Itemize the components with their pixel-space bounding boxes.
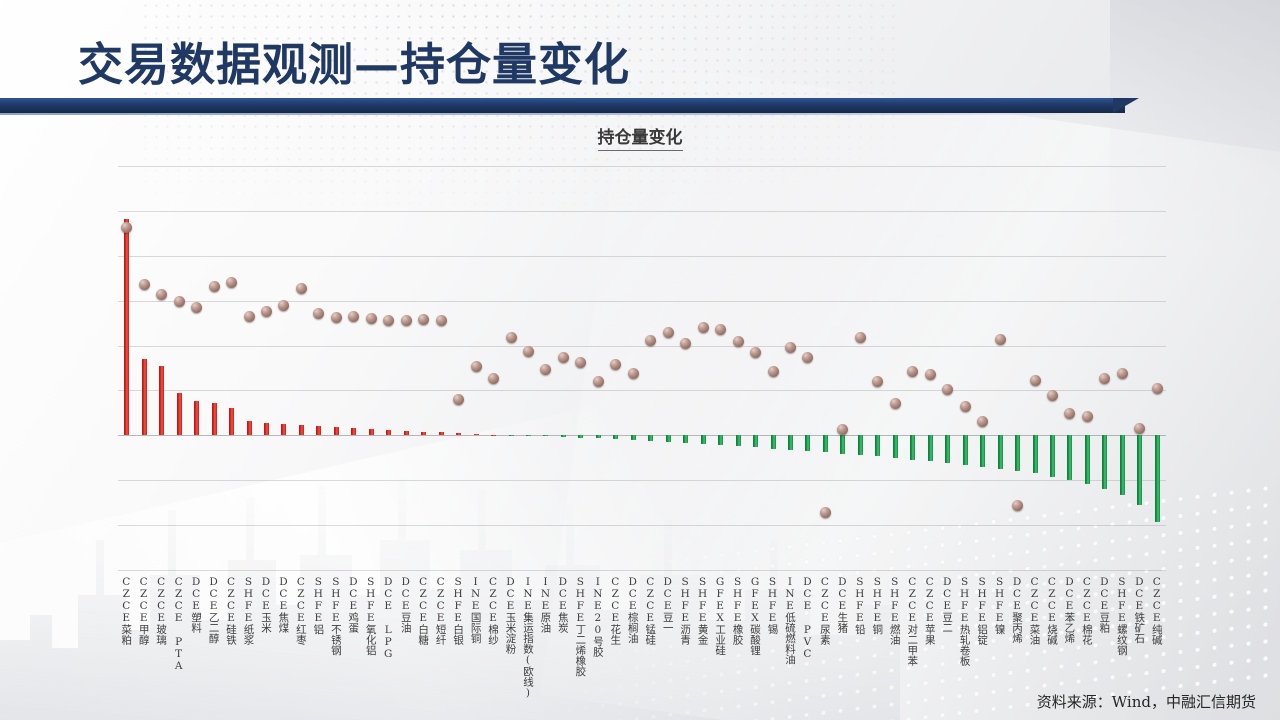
scatter-marker [139, 279, 150, 290]
x-axis-label: SHFE橡胶 [732, 576, 743, 645]
scatter-marker [907, 366, 918, 377]
page-title: 交易数据观测—持仓量变化 [78, 28, 630, 93]
gridline [118, 570, 1166, 571]
scatter-marker [540, 364, 551, 375]
scatter-marker [209, 281, 220, 292]
x-axis-label: GFEX工业硅 [715, 576, 726, 656]
scatter-marker [942, 384, 953, 395]
x-axis-label: DCE乙二醇 [208, 576, 219, 644]
scatter-marker [733, 336, 744, 347]
gridline [118, 480, 1166, 481]
bar-negative [736, 435, 741, 446]
header-accent-bar-tip [1113, 98, 1139, 113]
x-axis-label: INE原油 [540, 576, 551, 633]
x-axis-label: SHFE铜 [872, 576, 883, 635]
x-axis-label: CZCE对二甲苯 [907, 576, 918, 666]
scatter-marker [558, 352, 569, 363]
bar-positive [386, 430, 391, 436]
bar-positive [247, 421, 252, 435]
bar-negative [1102, 435, 1107, 489]
scatter-marker [1117, 368, 1128, 379]
x-axis-label: DCE棕榈油 [627, 576, 638, 644]
scatter-marker [925, 369, 936, 380]
x-axis-label: CZCE菜粕 [121, 576, 132, 645]
bar-negative [666, 435, 671, 442]
x-axis-label: SHFE白银 [453, 576, 464, 645]
bar-negative [561, 435, 566, 437]
x-axis-label: INE国际铜 [470, 576, 481, 644]
scatter-marker [471, 361, 482, 372]
bar-positive [177, 393, 182, 436]
x-axis-label: INE低硫燃料油 [784, 576, 795, 665]
bar-positive [316, 426, 321, 436]
scatter-marker [1064, 408, 1075, 419]
scatter-marker [1030, 375, 1041, 386]
x-axis-label: CZCE棉纱 [488, 576, 499, 645]
x-axis-label: SHFE沥青 [680, 576, 691, 645]
scatter-marker [383, 315, 394, 326]
bar-negative [1137, 435, 1142, 505]
bar-negative [631, 435, 636, 440]
x-axis-label: INE20号胶 [592, 576, 603, 657]
x-axis-label: SHFE黄金 [697, 576, 708, 645]
scatter-marker [261, 306, 272, 317]
bar-negative [875, 435, 880, 456]
x-axis-label: SHFE镍 [994, 576, 1005, 635]
gridline [118, 166, 1166, 167]
bar-negative [1050, 435, 1055, 477]
x-axis-label: GFEX碳酸锂 [750, 576, 761, 656]
scatter-marker [628, 368, 639, 379]
bar-negative [578, 435, 583, 437]
header-accent-hairline [0, 113, 1122, 115]
x-axis-label: CZCE玻璃 [156, 576, 167, 645]
plot-area: -60000-40000-200000200004000060000800001… [118, 166, 1166, 570]
scatter-marker [331, 312, 342, 323]
x-axis-label: CZCE尿素 [819, 576, 830, 645]
bar-positive [299, 425, 304, 436]
scatter-marker [453, 394, 464, 405]
x-axis-label: CZCE PTA [173, 576, 184, 672]
header-accent-bar [0, 98, 1125, 113]
bar-negative [718, 435, 723, 445]
x-axis-label: CZCE甲醇 [138, 576, 149, 645]
scatter-marker [1134, 423, 1145, 434]
scatter-marker [1012, 500, 1023, 511]
x-axis-label: CZCE短纤 [435, 576, 446, 645]
bar-negative [963, 435, 968, 465]
bar-negative [683, 435, 688, 443]
x-axis-label: DCE豆粕 [1099, 576, 1110, 633]
slide-header: 交易数据观测—持仓量变化 [0, 0, 1280, 122]
bar-positive [281, 424, 286, 436]
bar-positive [404, 431, 409, 436]
slide-canvas: 交易数据观测—持仓量变化 持仓量变化 -60000-40000-20000020… [0, 0, 1280, 720]
x-axis-label: CZCE菜油 [1029, 576, 1040, 645]
x-axis-label: DCE豆油 [400, 576, 411, 633]
bar-negative [858, 435, 863, 455]
scatter-marker [348, 311, 359, 322]
bar-negative [753, 435, 758, 447]
scatter-marker [436, 315, 447, 326]
x-axis-label: CZCE白糖 [418, 576, 429, 645]
x-axis-label: CZCE花生 [610, 576, 621, 645]
bar-negative [1085, 435, 1090, 483]
bar-positive [212, 403, 217, 435]
chart-container: 持仓量变化 -60000-40000-200000200004000060000… [0, 118, 1280, 678]
bar-negative [1015, 435, 1020, 471]
gridline [118, 211, 1166, 212]
scatter-marker [820, 507, 831, 518]
bar-positive [142, 359, 147, 435]
bar-negative [701, 435, 706, 444]
bar-positive [124, 219, 129, 436]
scatter-marker [855, 332, 866, 343]
x-axis-label: SHFE纸浆 [243, 576, 254, 645]
bar-negative [1120, 435, 1125, 494]
scatter-marker [663, 327, 674, 338]
x-axis-label: CZCE红枣 [295, 576, 306, 645]
scatter-marker [802, 352, 813, 363]
bar-negative [823, 435, 828, 452]
x-axis-label: DCE塑料 [191, 576, 202, 633]
chart-title: 持仓量变化 [0, 123, 1280, 148]
x-axis-label: DCE聚丙烯 [1012, 576, 1023, 644]
bar-negative [980, 435, 985, 466]
x-axis-label: SHFE丁二烯橡胶 [575, 576, 586, 677]
scatter-marker [785, 342, 796, 353]
x-axis-label: CZCE硅铁 [226, 576, 237, 645]
x-axis-label: DCE豆二 [942, 576, 953, 633]
bar-positive [229, 408, 234, 435]
bar-negative [596, 435, 601, 438]
scatter-marker [418, 314, 429, 325]
x-axis-label: DCE铁矿石 [1134, 576, 1145, 644]
bar-positive [421, 432, 426, 436]
x-axis-label: CZCE纯碱 [1151, 576, 1162, 645]
bar-positive [491, 435, 496, 436]
bar-positive [334, 427, 339, 436]
x-axis-label: DCE豆一 [662, 576, 673, 633]
bar-negative [771, 435, 776, 448]
scatter-marker [715, 324, 726, 335]
bar-positive [439, 432, 444, 435]
bar-negative [613, 435, 618, 439]
chart-title-text: 持仓量变化 [598, 128, 683, 151]
gridline [118, 301, 1166, 302]
bar-negative [893, 435, 898, 457]
x-axis-label: CZCE锰硅 [645, 576, 656, 645]
scatter-marker [226, 277, 237, 288]
bar-negative [928, 435, 933, 461]
scatter-marker [960, 401, 971, 412]
bar-negative [648, 435, 653, 441]
scatter-marker [244, 311, 255, 322]
scatter-marker [523, 346, 534, 357]
x-axis-label: DCE苯乙烯 [1064, 576, 1075, 644]
scatter-marker [750, 347, 761, 358]
scatter-marker [872, 376, 883, 387]
x-axis-label: CZCE棉花 [1081, 576, 1092, 645]
bar-negative [910, 435, 915, 459]
scatter-marker [680, 338, 691, 349]
scatter-marker [278, 300, 289, 311]
scatter-marker [698, 322, 709, 333]
gridline [118, 346, 1166, 347]
x-axis-label: CZCE苹果 [924, 576, 935, 645]
bar-negative [998, 435, 1003, 469]
scatter-marker [1082, 411, 1093, 422]
x-axis-label: CZCE烧碱 [1046, 576, 1057, 645]
bar-positive [159, 366, 164, 436]
scatter-marker [191, 302, 202, 313]
bar-negative [805, 435, 810, 451]
gridline [118, 256, 1166, 257]
scatter-marker [768, 366, 779, 377]
bar-negative [788, 435, 793, 449]
scatter-marker [610, 359, 621, 370]
scatter-marker [366, 313, 377, 324]
scatter-marker [174, 296, 185, 307]
scatter-marker [890, 398, 901, 409]
x-axis-label: SHFE氧化铝 [365, 576, 376, 656]
x-axis-label: SHFE不锈钢 [330, 576, 341, 656]
x-axis-label: DCE玉米淀粉 [505, 576, 516, 654]
bar-negative [945, 435, 950, 463]
zero-line [118, 435, 1166, 436]
scatter-marker [1047, 390, 1058, 401]
x-axis-label: DCE玉米 [260, 576, 271, 633]
bar-negative [1067, 435, 1072, 480]
bar-negative [1155, 435, 1160, 521]
scatter-marker [593, 376, 604, 387]
bar-positive [194, 401, 199, 436]
scatter-marker [575, 357, 586, 368]
x-axis-label: SHFE铅 [854, 576, 865, 635]
x-axis-label: SHFE铝锭 [977, 576, 988, 645]
scatter-marker [977, 416, 988, 427]
bar-negative [1033, 435, 1038, 473]
scatter-marker [1099, 373, 1110, 384]
bar-positive [369, 429, 374, 436]
x-axis-label: SHFE螺纹钢 [1116, 576, 1127, 656]
scatter-marker [645, 335, 656, 346]
bar-negative [840, 435, 845, 453]
x-axis-label: DCE鸡蛋 [348, 576, 359, 633]
scatter-marker [121, 222, 132, 233]
x-axis-label: SHFE铝 [313, 576, 324, 635]
x-axis-label: DCE焦煤 [278, 576, 289, 633]
scatter-marker [488, 373, 499, 384]
x-axis-label: SHFE热轧卷板 [959, 576, 970, 666]
bar-positive [264, 423, 269, 436]
scatter-marker [1152, 383, 1163, 394]
gridline [118, 390, 1166, 391]
x-axis-label: INE集运指数(欧线) [522, 576, 533, 699]
x-axis-label: DCE PVC [802, 576, 813, 660]
scatter-marker [506, 332, 517, 343]
plot-wrapper: -60000-40000-200000200004000060000800001… [0, 152, 1280, 672]
source-note: 资料来源：Wind，中融汇信期货 [1037, 691, 1256, 712]
x-axis-label: DCE生猪 [837, 576, 848, 633]
x-axis-label: DCE焦炭 [557, 576, 568, 633]
scatter-marker [296, 283, 307, 294]
bar-positive [351, 428, 356, 436]
x-axis-label: SHFE锡 [767, 576, 778, 635]
scatter-marker [401, 315, 412, 326]
x-axis-label: SHFE燃油 [889, 576, 900, 645]
scatter-marker [995, 334, 1006, 345]
gridline [118, 525, 1166, 526]
scatter-marker [313, 308, 324, 319]
scatter-marker [156, 289, 167, 300]
x-axis-label: DCE LPG [383, 576, 394, 660]
scatter-marker [837, 424, 848, 435]
